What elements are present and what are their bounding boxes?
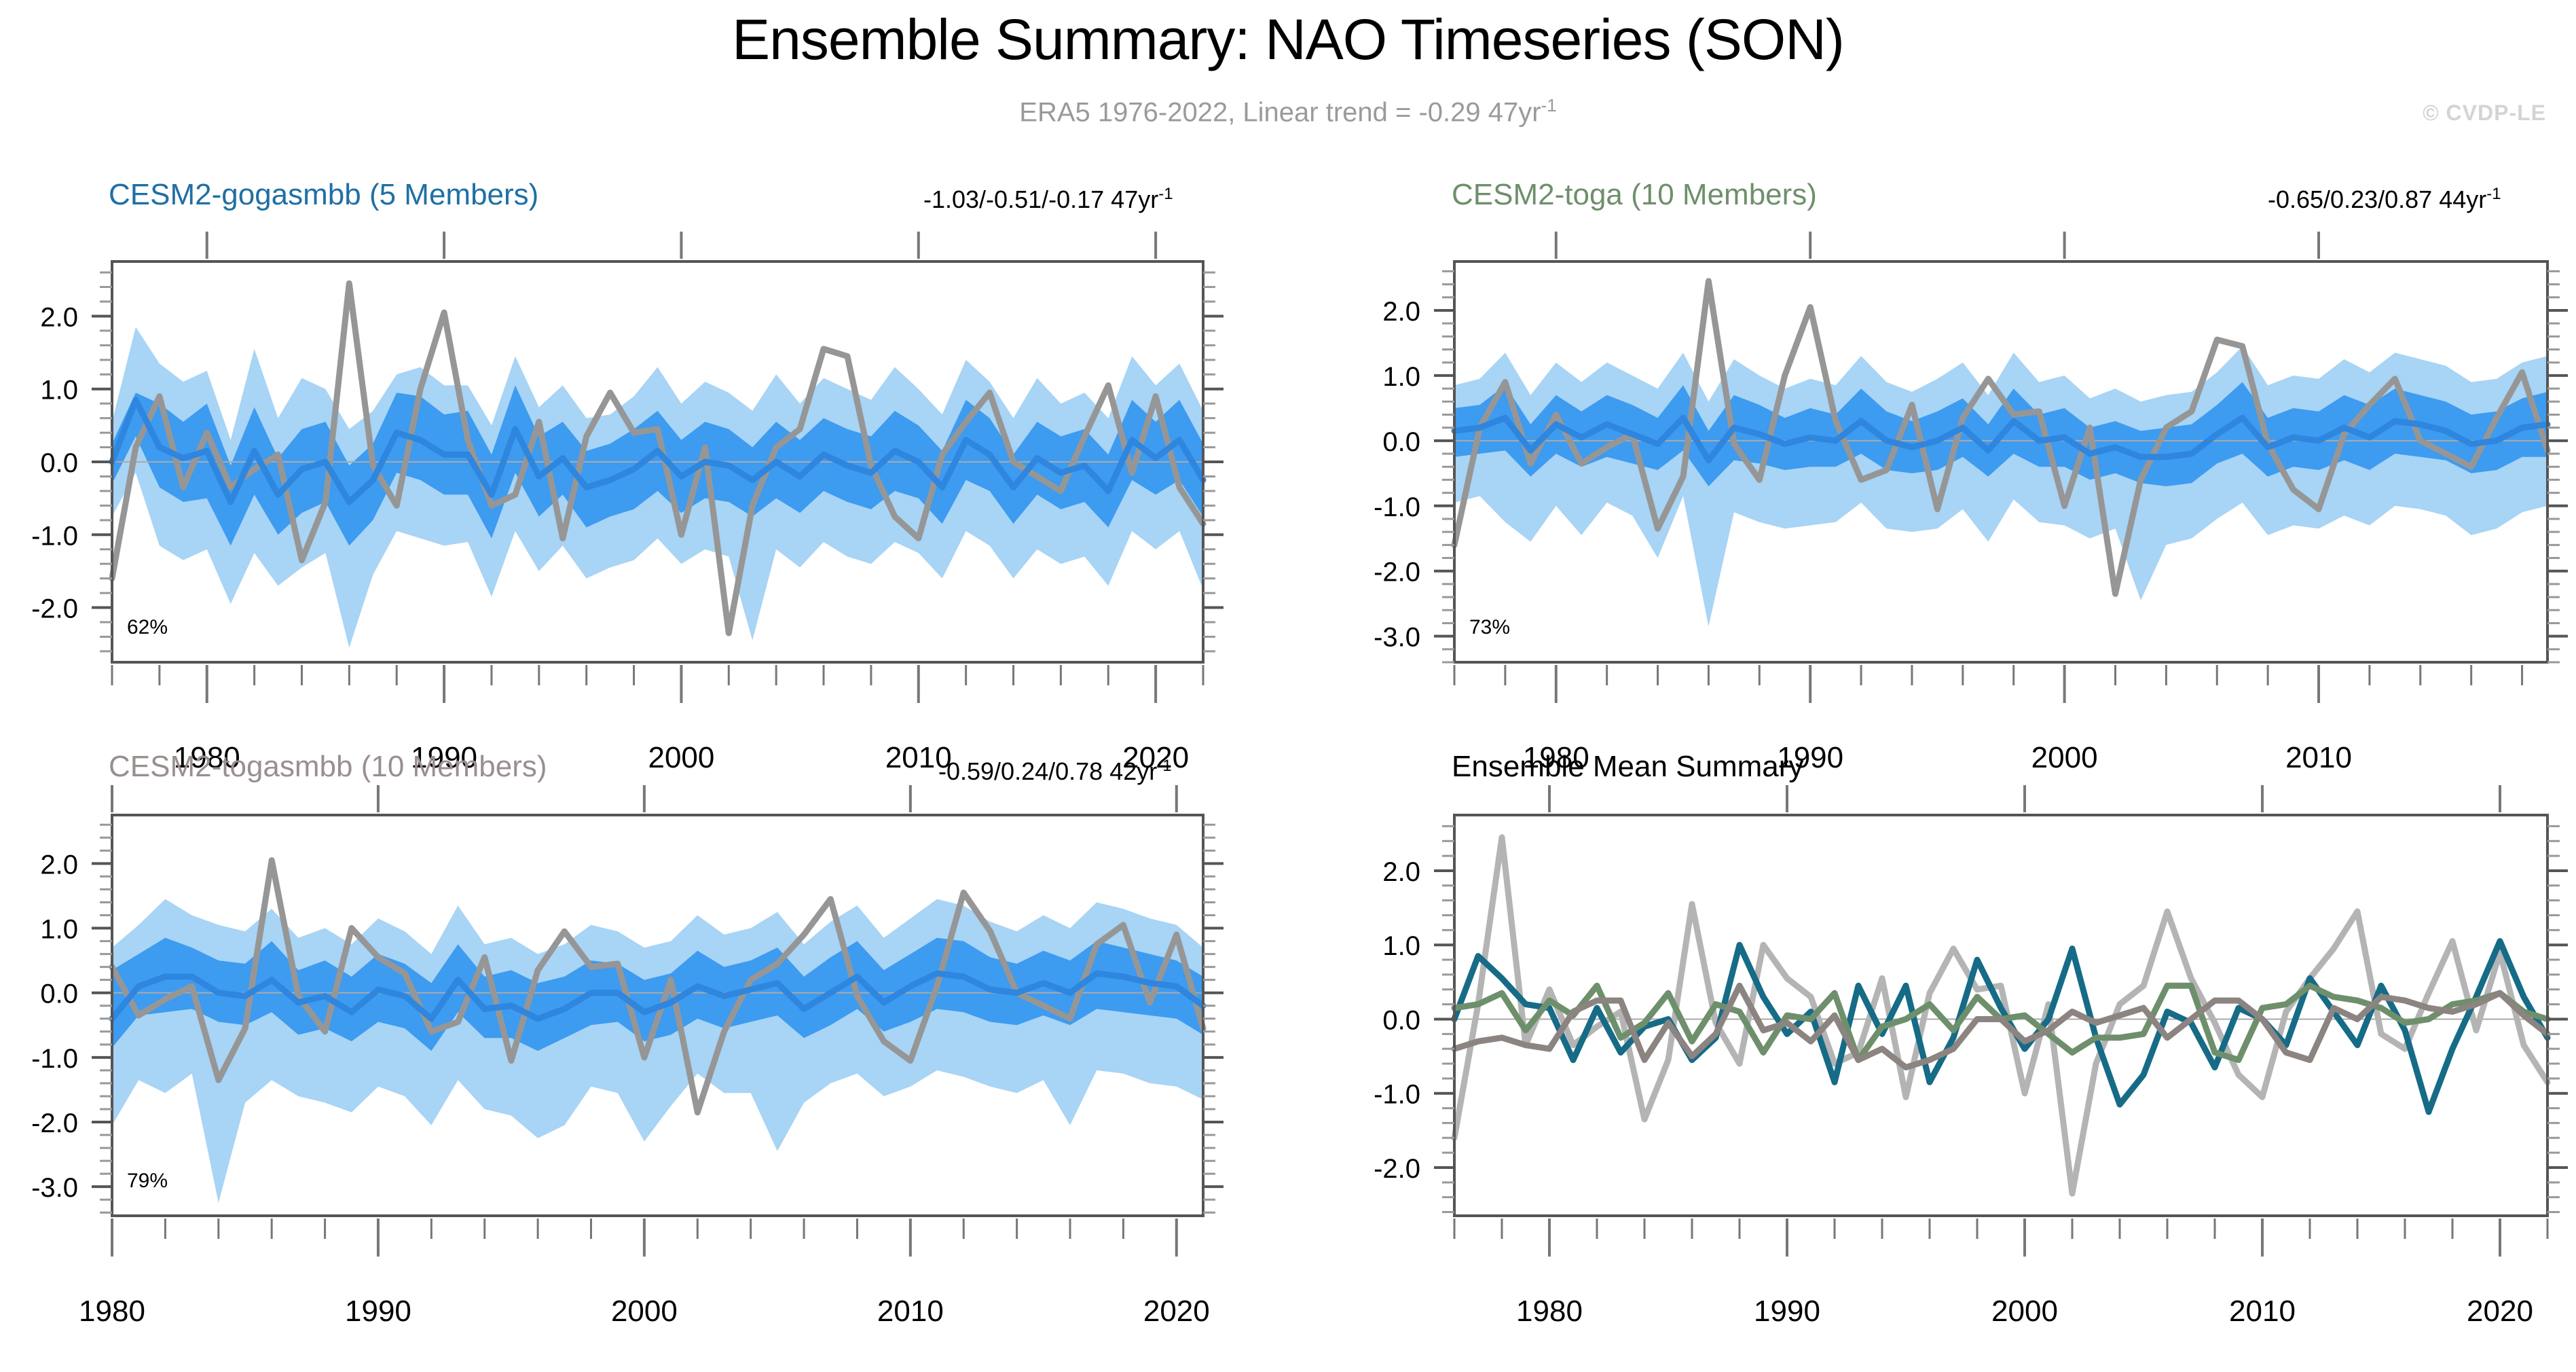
- plot-frame-panel4: [1454, 815, 2547, 1216]
- percent-label-panel2: 73%: [1469, 616, 1510, 638]
- plot-panel4: 2.01.00.0-1.0-2.019801990200020102020: [1339, 815, 2576, 1372]
- panel-trend-panel3: -0.59/0.24/0.78 42yr-1: [938, 757, 1172, 786]
- panel-panel1: CESM2-gogasmbb (5 Members)-1.03/-0.51/-0…: [0, 0, 2576, 1309]
- obs-line-panel3: [112, 861, 1203, 1113]
- y-tick-label: -2.0: [1374, 1154, 1420, 1184]
- y-tick-label: -1.0: [1374, 492, 1420, 522]
- x-tick-label: 1990: [1777, 741, 1843, 774]
- figure-root: Ensemble Summary: NAO Timeseries (SON) E…: [0, 0, 2576, 1309]
- x-tick-label: 1980: [174, 741, 240, 774]
- x-tick-label: 2020: [2467, 1295, 2533, 1328]
- y-tick-label: 2.0: [1382, 857, 1420, 887]
- band-inner-panel3: [112, 938, 1203, 1051]
- plot-frame-panel1: [112, 261, 1203, 662]
- y-tick-label: -3.0: [1374, 623, 1420, 653]
- panel-panel4: Ensemble Mean Summary2.01.00.0-1.0-2.019…: [0, 0, 2576, 1309]
- x-tick-label: 2010: [2285, 741, 2352, 774]
- y-tick-label: 1.0: [40, 376, 78, 405]
- y-tick-label: 0.0: [1382, 427, 1420, 457]
- y-tick-label: -1.0: [31, 1044, 78, 1074]
- plot-frame-panel3: [112, 815, 1203, 1216]
- y-tick-label: 2.0: [40, 302, 78, 332]
- band-inner-panel2: [1454, 382, 2547, 487]
- series-line-era5: [1454, 837, 2547, 1193]
- x-tick-label: 1980: [79, 1295, 145, 1328]
- band-outer-panel3: [112, 899, 1203, 1203]
- x-tick-label: 1990: [345, 1295, 411, 1328]
- y-tick-label: -2.0: [31, 1108, 78, 1138]
- series-line-cesm2-toga: [1454, 986, 2547, 1060]
- x-tick-label: 2010: [2229, 1295, 2296, 1328]
- y-tick-label: -2.0: [1374, 558, 1420, 588]
- series-line-cesm2-gogasmbb: [1454, 941, 2547, 1112]
- x-tick-label: 2010: [877, 1295, 944, 1328]
- y-tick-label: -1.0: [31, 521, 78, 551]
- ensemble-mean-line-panel2: [1454, 418, 2547, 460]
- percent-label-panel1: 62%: [127, 616, 168, 638]
- y-tick-label: 0.0: [40, 448, 78, 478]
- y-tick-label: 0.0: [40, 979, 78, 1009]
- obs-line-panel2: [1454, 281, 2547, 594]
- y-tick-label: 1.0: [1382, 931, 1420, 961]
- y-tick-label: -1.0: [1374, 1080, 1420, 1110]
- y-tick-label: -2.0: [31, 594, 78, 624]
- figure-title: Ensemble Summary: NAO Timeseries (SON): [0, 7, 2576, 73]
- x-tick-label: 2020: [1122, 741, 1189, 774]
- copyright-label: © CVDP-LE: [2423, 101, 2546, 126]
- panel-panel3: CESM2-togasmbb (10 Members)-0.59/0.24/0.…: [0, 0, 2576, 1309]
- x-tick-label: 2000: [2031, 741, 2098, 774]
- band-inner-panel1: [112, 385, 1203, 545]
- ensemble-mean-line-panel3: [112, 973, 1203, 1019]
- series-line-cesm2-togasmbb: [1454, 986, 2547, 1067]
- panel-trend-panel2: -0.65/0.23/0.87 44yr-1: [2268, 185, 2501, 214]
- band-outer-panel1: [112, 327, 1203, 648]
- panel-title-panel1: CESM2-gogasmbb (5 Members): [109, 178, 538, 212]
- ensemble-mean-line-panel1: [112, 400, 1203, 502]
- x-tick-label: 2000: [611, 1295, 678, 1328]
- x-tick-label: 1990: [1754, 1295, 1820, 1328]
- x-tick-label: 1990: [411, 741, 477, 774]
- x-tick-label: 2020: [1143, 1295, 1210, 1328]
- x-tick-label: 2010: [885, 741, 952, 774]
- x-tick-label: 1980: [1523, 741, 1589, 774]
- panel-title-panel3: CESM2-togasmbb (10 Members): [109, 750, 547, 784]
- x-tick-label: 1980: [1516, 1295, 1583, 1328]
- subtitle-exponent: -1: [1541, 95, 1557, 115]
- x-tick-label: 2000: [648, 741, 714, 774]
- panel-title-panel2: CESM2-toga (10 Members): [1452, 178, 1817, 212]
- y-tick-label: 2.0: [40, 850, 78, 880]
- panel-trend-panel1: -1.03/-0.51/-0.17 47yr-1: [923, 185, 1173, 214]
- plot-panel2: 2.01.00.0-1.0-2.0-3.0198019902000201073%: [1339, 261, 2576, 818]
- panel-panel2: CESM2-toga (10 Members)-0.65/0.23/0.87 4…: [0, 0, 2576, 1309]
- y-tick-label: 1.0: [40, 915, 78, 945]
- y-tick-label: -3.0: [31, 1173, 78, 1203]
- figure-subtitle: ERA5 1976-2022, Linear trend = -0.29 47y…: [0, 95, 2576, 128]
- plot-panel1: 2.01.00.0-1.0-2.01980199020002010202062%: [0, 261, 1285, 818]
- panel-title-panel4: Ensemble Mean Summary: [1452, 750, 1803, 784]
- x-tick-label: 2000: [1991, 1295, 2058, 1328]
- percent-label-panel3: 79%: [127, 1170, 168, 1192]
- y-tick-label: 2.0: [1382, 297, 1420, 327]
- subtitle-text: ERA5 1976-2022, Linear trend = -0.29 47y…: [1019, 97, 1541, 127]
- y-tick-label: 0.0: [1382, 1005, 1420, 1035]
- plot-panel3: 2.01.00.0-1.0-2.0-3.01980199020002010202…: [0, 815, 1285, 1372]
- plot-frame-panel2: [1454, 261, 2547, 662]
- y-tick-label: 1.0: [1382, 362, 1420, 392]
- band-outer-panel2: [1454, 346, 2547, 627]
- obs-line-panel1: [112, 283, 1203, 633]
